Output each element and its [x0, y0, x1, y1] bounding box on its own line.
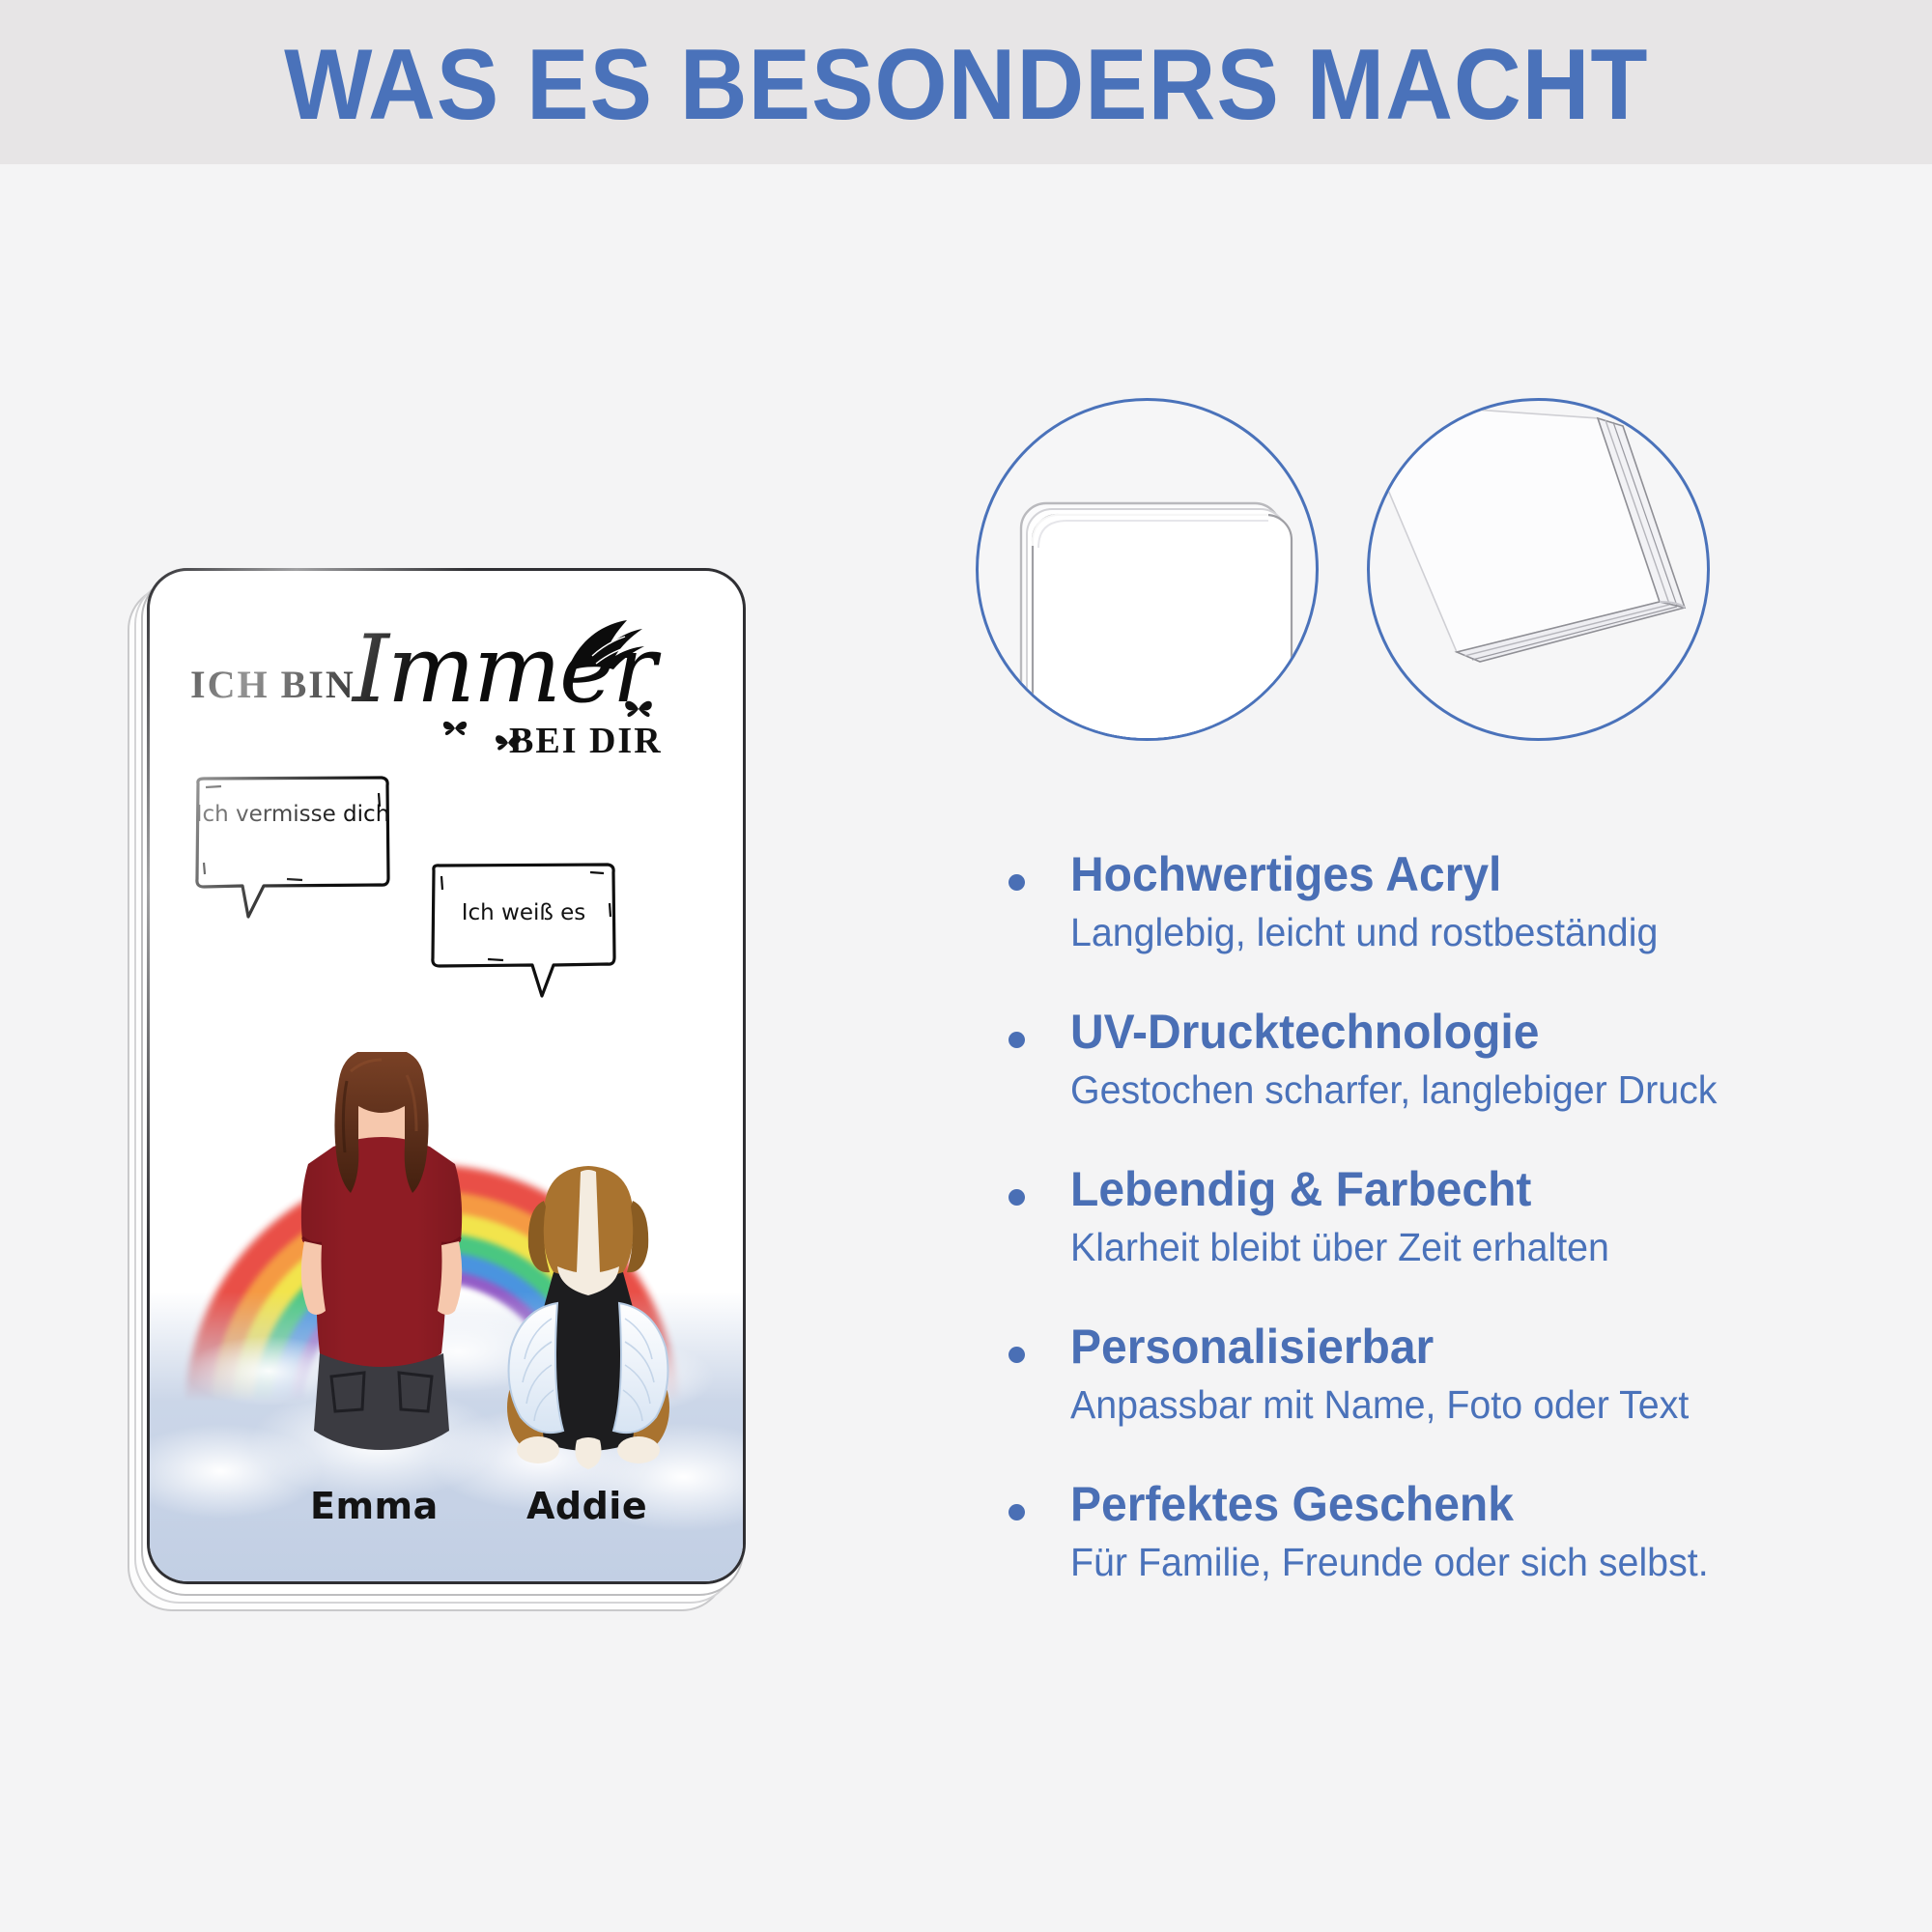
- feature-title: Lebendig & Farbecht: [1070, 1163, 1842, 1215]
- acrylic-corner-illustration: [979, 401, 1316, 738]
- feature-title: UV-Drucktechnologie: [1070, 1006, 1842, 1058]
- feature-item: Personalisierbar Anpassbar mit Name, Fot…: [1005, 1321, 1874, 1428]
- feature-item: UV-Drucktechnologie Gestochen scharfer, …: [1005, 1006, 1874, 1113]
- product-plaque: ICH BIN Immer BEI DIR: [128, 568, 746, 1613]
- feature-item: Perfektes Geschenk Für Familie, Freunde …: [1005, 1478, 1874, 1585]
- header-band: WAS ES BESONDERS MACHT: [0, 0, 1932, 164]
- feature-subtitle: Klarheit bleibt über Zeit erhalten: [1070, 1226, 1842, 1270]
- acrylic-edge-illustration: [1370, 401, 1707, 738]
- feature-subtitle: Langlebig, leicht und rostbeständig: [1070, 911, 1842, 955]
- speech-bubble-text: Ich weiß es: [428, 899, 619, 927]
- speech-bubble-person: Ich vermisse dich: [192, 774, 393, 888]
- angel-wing-icon: [563, 617, 646, 677]
- detail-circle-edge-closeup: [1367, 398, 1710, 741]
- plaque-headline: ICH BIN Immer BEI DIR: [173, 617, 725, 743]
- bullet-dot-icon: [1009, 1189, 1025, 1206]
- feature-list: Hochwertiges Acryl Langlebig, leicht und…: [1005, 848, 1874, 1635]
- detail-circle-corner-closeup: [976, 398, 1319, 741]
- headline-line-2: BEI DIR: [509, 720, 663, 762]
- plaque-artwork: ICH BIN Immer BEI DIR: [150, 571, 743, 1581]
- pet-name-label: Addie: [526, 1485, 647, 1527]
- pet-figure: [503, 1158, 673, 1477]
- butterfly-icon: [623, 696, 654, 722]
- feature-item: Hochwertiges Acryl Langlebig, leicht und…: [1005, 848, 1874, 955]
- speech-bubble-pet: Ich weiß es: [428, 861, 619, 967]
- page-title: WAS ES BESONDERS MACHT: [284, 35, 1648, 135]
- speech-bubble-text: Ich vermisse dich: [192, 801, 393, 829]
- butterfly-icon: [441, 718, 469, 739]
- feature-item: Lebendig & Farbecht Klarheit bleibt über…: [1005, 1163, 1874, 1270]
- bullet-dot-icon: [1009, 1032, 1025, 1048]
- plaque-print-face: ICH BIN Immer BEI DIR: [147, 568, 746, 1584]
- feature-title: Perfektes Geschenk: [1070, 1478, 1842, 1530]
- person-name-label: Emma: [310, 1485, 439, 1527]
- feature-subtitle: Anpassbar mit Name, Foto oder Text: [1070, 1383, 1842, 1428]
- feature-subtitle: Gestochen scharfer, langlebiger Druck: [1070, 1068, 1842, 1113]
- person-figure: [275, 1052, 488, 1467]
- headline-line-1: ICH BIN: [190, 662, 355, 707]
- bullet-dot-icon: [1009, 1347, 1025, 1363]
- feature-title: Personalisierbar: [1070, 1321, 1842, 1373]
- butterfly-icon: [494, 731, 523, 754]
- feature-title: Hochwertiges Acryl: [1070, 848, 1842, 900]
- feature-subtitle: Für Familie, Freunde oder sich selbst.: [1070, 1541, 1842, 1585]
- bullet-dot-icon: [1009, 874, 1025, 891]
- bullet-dot-icon: [1009, 1504, 1025, 1520]
